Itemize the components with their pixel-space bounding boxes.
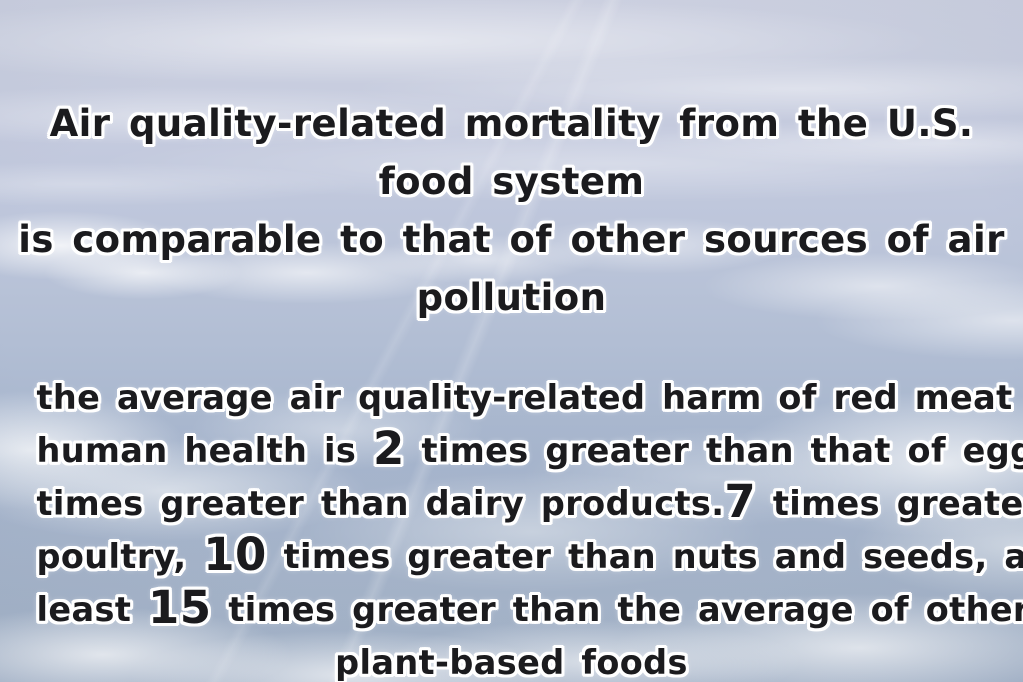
body-paragraph: the average air quality-related harm of … (37, 371, 987, 682)
body-text-segment: least (37, 590, 149, 629)
headline: Air quality-related mortality from the U… (17, 95, 1007, 327)
body-text-segment: times greater than (756, 484, 1023, 523)
emphasized-number: 15 (148, 581, 212, 634)
body-text-segment: the average air quality-related harm of … (37, 378, 1023, 417)
body-text-segment: plant-based foods (335, 643, 688, 682)
body-line-3: times greater than dairy products.7 time… (37, 477, 987, 530)
body-text-segment: times greater than that of eggs, (405, 431, 1023, 470)
body-text-segment: human health is (37, 431, 374, 470)
headline-line-2: is comparable to that of other sources o… (17, 211, 1007, 327)
body-text-segment: times greater than dairy products. (37, 484, 725, 523)
emphasized-number: 10 (203, 528, 267, 581)
body-text-segment: times greater than nuts and seeds, and a… (267, 537, 1023, 576)
body-line-4: poultry, 10 times greater than nuts and … (37, 530, 987, 583)
emphasized-number: 2 (373, 422, 405, 475)
body-line-2: human health is 2 times greater than tha… (37, 424, 987, 477)
headline-line-1: Air quality-related mortality from the U… (17, 95, 1007, 211)
emphasized-number: 7 (724, 475, 756, 528)
body-line-5: least 15 times greater than the average … (37, 583, 987, 636)
poster-image: Air quality-related mortality from the U… (0, 0, 1023, 682)
body-text-segment: times greater than the average of other (212, 590, 1023, 629)
body-text-segment: poultry, (37, 537, 204, 576)
body-line-6: plant-based foods (37, 636, 987, 682)
body-line-1: the average air quality-related harm of … (37, 371, 987, 424)
text-overlay: Air quality-related mortality from the U… (0, 0, 1023, 682)
